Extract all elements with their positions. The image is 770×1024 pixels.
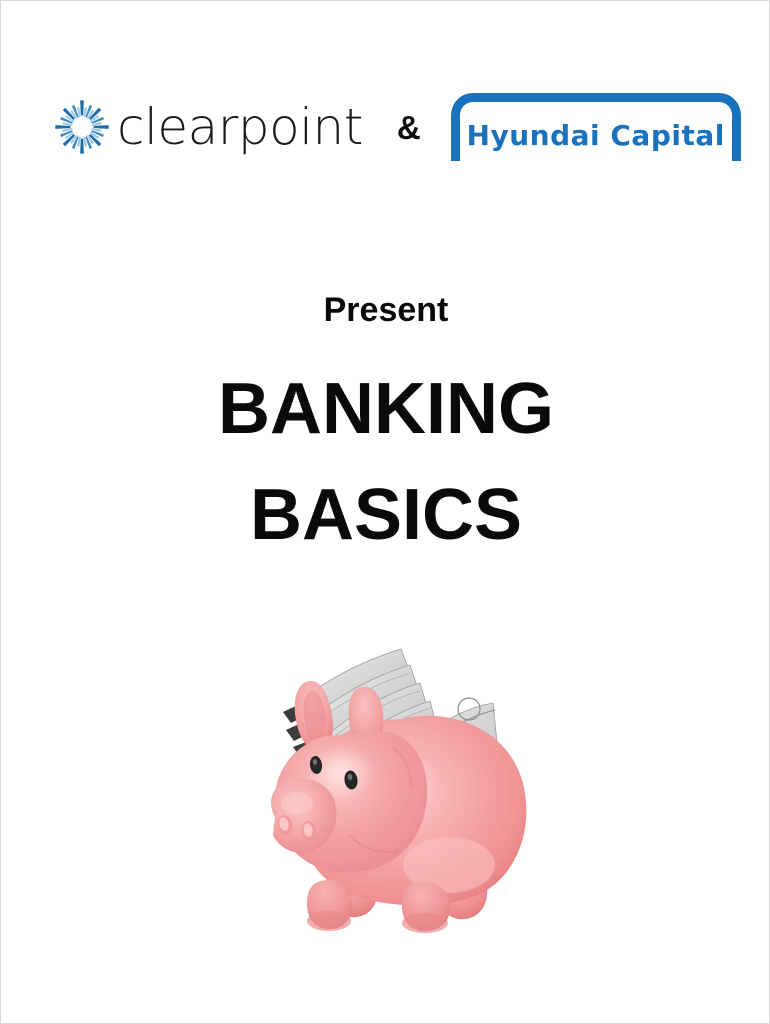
document-page: clearpoint & Hyundai Capital Present BAN…	[0, 0, 770, 1024]
logo-row: clearpoint & Hyundai Capital	[1, 79, 770, 175]
clearpoint-logo: clearpoint	[53, 98, 363, 156]
page-title-line-1: BANKING	[1, 373, 770, 445]
present-label: Present	[1, 293, 770, 327]
page-title-line-2: BASICS	[1, 479, 770, 551]
hyundai-capital-logo: Hyundai Capital	[451, 93, 741, 161]
ampersand-separator: &	[397, 111, 421, 144]
clearpoint-wordmark: clearpoint	[117, 102, 363, 152]
piggy-bank-illustration	[253, 597, 539, 947]
hyundai-capital-wordmark: Hyundai Capital	[467, 122, 725, 150]
starburst-icon	[53, 98, 111, 156]
